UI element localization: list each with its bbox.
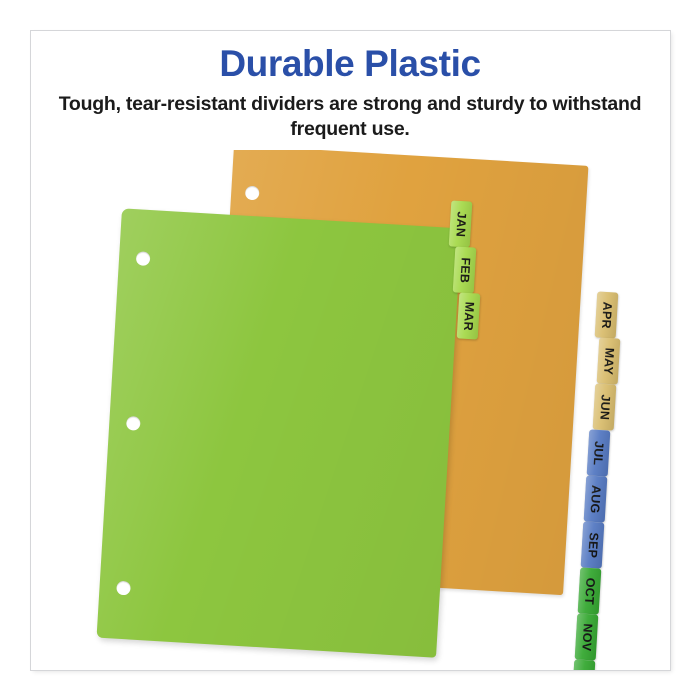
tab-label: FEB [458,257,472,283]
tab-jun[interactable]: JUN [593,383,617,430]
tab-gloss [572,659,596,670]
tab-apr[interactable]: APR [595,291,619,338]
tab-dec[interactable]: DEC [572,659,596,670]
tab-jan[interactable]: JAN [449,200,473,247]
tab-label: APR [599,301,613,329]
tab-label: SEP [586,532,600,558]
tab-label: AUG [588,484,602,513]
tab-sep[interactable]: SEP [581,521,605,568]
tab-mar[interactable]: MAR [457,292,481,339]
tab-label: JUN [598,394,612,420]
tab-feb[interactable]: FEB [453,246,477,293]
page-subtitle: Tough, tear-resistant dividers are stron… [40,92,660,143]
tab-jul[interactable]: JUL [587,429,611,476]
tab-label: OCT [582,577,596,605]
tab-may[interactable]: MAY [597,337,621,384]
page-title: Durable Plastic [40,44,660,84]
green-divider [97,208,462,657]
tab-nov[interactable]: NOV [575,613,599,660]
tab-oct[interactable]: OCT [578,567,602,614]
tab-label: NOV [579,623,593,651]
marketing-text-block: Durable Plastic Tough, tear-resistant di… [40,44,660,143]
tab-label: MAR [461,301,475,331]
tab-label: MAY [601,347,615,375]
tab-label: DEC [576,669,590,670]
tab-label: JUL [592,441,606,466]
product-feature-image: Durable Plastic Tough, tear-resistant di… [0,0,700,700]
green-divider-shading [97,208,462,657]
product-photo: APR MAY JUN JUL AUG SEP [31,150,670,670]
tab-label: JAN [454,211,468,237]
tab-aug[interactable]: AUG [584,475,608,522]
